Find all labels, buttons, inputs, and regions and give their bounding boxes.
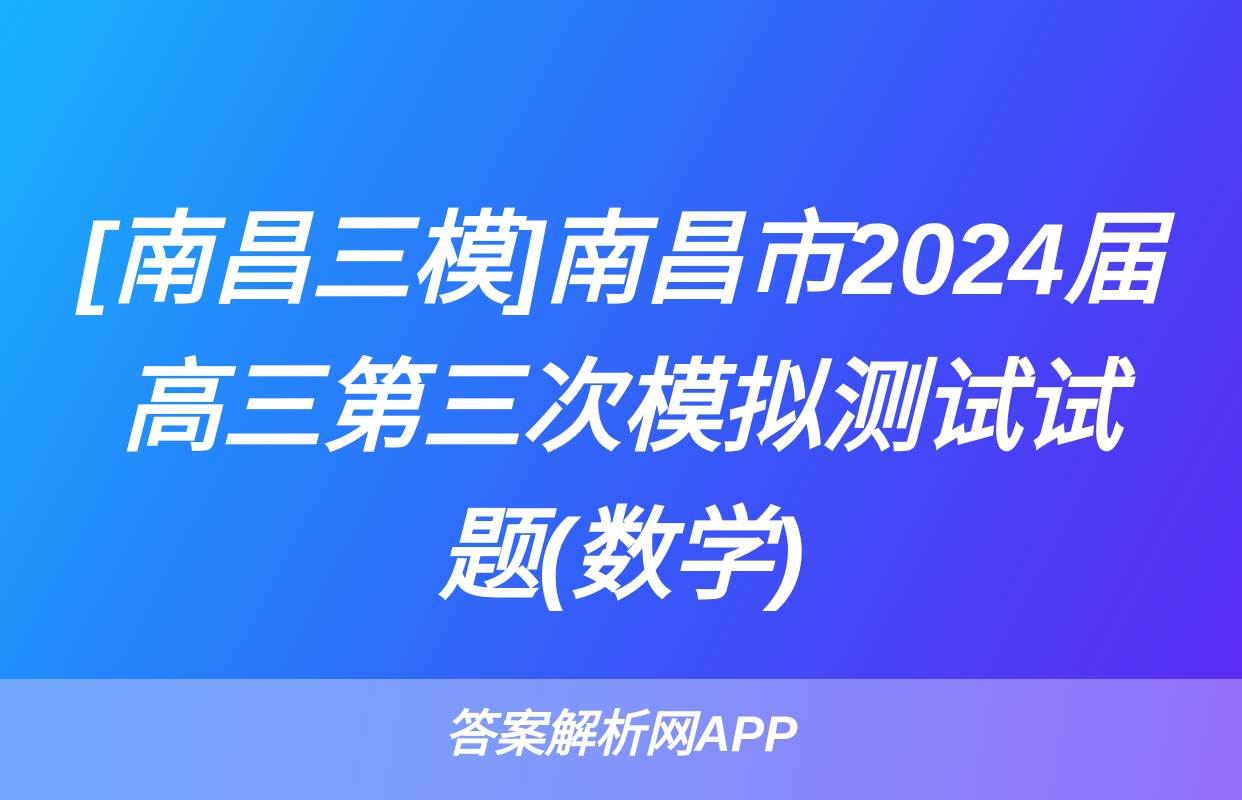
brand-watermark-label: 答案解析网APP (445, 703, 798, 765)
exam-cover-poster: [南昌三模]南昌市2024届高三第三次模拟测试试题(数学) 答案解析网APP (0, 0, 1242, 800)
exam-title-text: [南昌三模]南昌市2024届高三第三次模拟测试试题(数学) (78, 186, 1164, 630)
brand-watermark: 答案解析网APP (0, 703, 1242, 765)
page-title: [南昌三模]南昌市2024届高三第三次模拟测试试题(数学) (0, 186, 1242, 630)
